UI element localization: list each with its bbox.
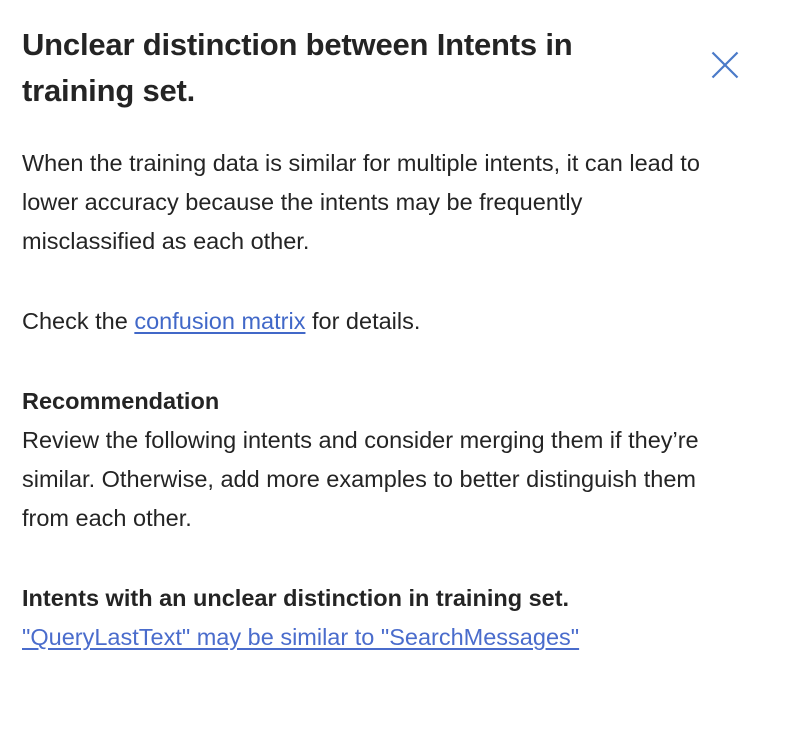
- check-prefix-text: Check the: [22, 308, 134, 334]
- recommendation-heading: Recommendation: [22, 382, 721, 421]
- intro-paragraph: When the training data is similar for mu…: [22, 144, 721, 261]
- close-button[interactable]: [705, 45, 745, 85]
- check-paragraph: Check the confusion matrix for details.: [22, 302, 721, 341]
- intents-list-heading: Intents with an unclear distinction in t…: [22, 579, 721, 618]
- close-icon: [711, 51, 739, 79]
- dialog-body: When the training data is similar for mu…: [0, 144, 743, 657]
- intent-pair-link[interactable]: "QueryLastText" may be similar to "Searc…: [22, 618, 579, 657]
- page-title: Unclear distinction between Intents in t…: [22, 22, 682, 114]
- confusion-matrix-link[interactable]: confusion matrix: [134, 308, 305, 334]
- unclear-intent-distinction-dialog: Unclear distinction between Intents in t…: [0, 0, 787, 742]
- recommendation-paragraph: Review the following intents and conside…: [22, 421, 721, 538]
- dialog-header: Unclear distinction between Intents in t…: [0, 0, 787, 114]
- check-suffix-text: for details.: [305, 308, 420, 334]
- intent-pair-list: "QueryLastText" may be similar to "Searc…: [22, 618, 721, 657]
